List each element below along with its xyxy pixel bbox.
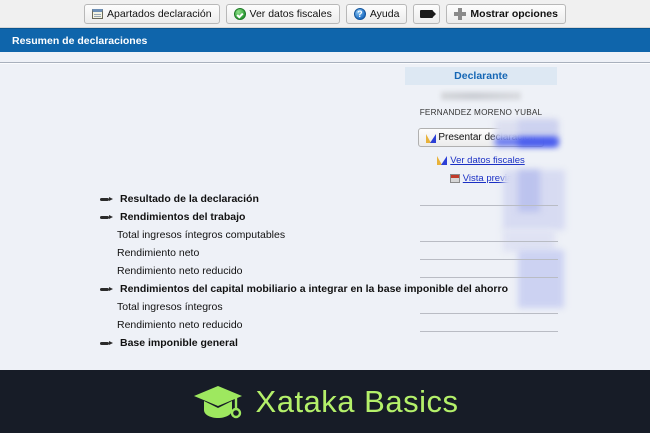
window-icon xyxy=(92,9,103,19)
declarante-heading: Declarante xyxy=(405,67,557,85)
top-toolbar: Apartados declaración Ver datos fiscales… xyxy=(0,0,650,28)
summary-row-label: Rendimiento neto reducido xyxy=(117,319,243,331)
summary-row[interactable]: Resultado de la declaración xyxy=(0,190,650,208)
summary-row[interactable]: Rendimiento neto xyxy=(0,244,650,262)
declaration-summary-page: Declarante FERNANDEZ MORENO YUBAL Presen… xyxy=(0,52,650,363)
summary-row-value-line xyxy=(420,277,558,278)
summary-row-value-line xyxy=(420,241,558,242)
video-button[interactable] xyxy=(413,4,440,24)
summary-rows: Resultado de la declaración Rendimientos… xyxy=(0,190,650,352)
summary-row-value-line xyxy=(420,205,558,206)
ver-datos-fiscales-link[interactable]: Ver datos fiscales xyxy=(450,155,524,166)
declarante-panel: Declarante FERNANDEZ MORENO YUBAL Presen… xyxy=(405,67,557,184)
presentar-declaracion-button[interactable]: Presentar declaración xyxy=(418,128,543,147)
vista-previa-link[interactable]: Vista previa xyxy=(463,173,512,184)
summary-row-label: Rendimientos del trabajo xyxy=(120,211,245,223)
apartados-declaracion-button[interactable]: Apartados declaración xyxy=(84,4,219,24)
arrow-bullet-icon xyxy=(100,215,113,220)
summary-row-label: Total ingresos íntegros xyxy=(117,301,223,313)
ver-datos-fiscales-button[interactable]: Ver datos fiscales xyxy=(226,4,340,24)
page-title: Resumen de declaraciones xyxy=(12,35,147,47)
ver-datos-fiscales-label: Ver datos fiscales xyxy=(250,8,332,20)
arrow-bullet-icon xyxy=(100,341,113,346)
vista-previa-link-row[interactable]: Vista previa xyxy=(405,173,557,184)
summary-row[interactable]: Rendimiento neto reducido xyxy=(0,262,650,280)
summary-row[interactable]: Base imponible general xyxy=(0,334,650,352)
summary-row-value-line xyxy=(420,331,558,332)
summary-row-label: Resultado de la declaración xyxy=(120,193,259,205)
section-header-bar: Resumen de declaraciones xyxy=(0,28,650,52)
ver-datos-fiscales-link-row[interactable]: Ver datos fiscales xyxy=(405,155,557,166)
mostrar-opciones-button[interactable]: Mostrar opciones xyxy=(446,4,566,24)
graduation-cap-icon xyxy=(192,383,244,421)
pdf-preview-icon xyxy=(450,174,460,183)
summary-row-label: Rendimientos del capital mobiliario a in… xyxy=(120,283,508,295)
help-question-icon: ? xyxy=(354,8,366,20)
acrobat-icon xyxy=(426,133,436,143)
summary-row[interactable]: Rendimiento neto reducido xyxy=(0,316,650,334)
arrow-bullet-icon xyxy=(100,197,113,202)
summary-row[interactable]: Total ingresos íntegros computables xyxy=(0,226,650,244)
top-divider xyxy=(0,62,650,64)
summary-row-label: Total ingresos íntegros computables xyxy=(117,229,285,241)
green-check-icon xyxy=(234,8,246,20)
video-camera-icon xyxy=(420,10,433,18)
presentar-declaracion-label: Presentar declaración xyxy=(438,132,535,143)
summary-row[interactable]: Rendimientos del capital mobiliario a in… xyxy=(0,280,650,298)
declarante-name: FERNANDEZ MORENO YUBAL xyxy=(405,108,557,117)
summary-row-value-line xyxy=(420,259,558,260)
move-arrows-icon xyxy=(454,8,466,20)
summary-row-label: Base imponible general xyxy=(120,337,238,349)
acrobat-icon xyxy=(437,155,447,165)
summary-row-label: Rendimiento neto reducido xyxy=(117,265,243,277)
summary-row-label: Rendimiento neto xyxy=(117,247,199,259)
ayuda-button[interactable]: ? Ayuda xyxy=(346,4,408,24)
footer-banner: Xataka Basics xyxy=(0,370,650,433)
footer-brand-title: Xataka Basics xyxy=(256,384,459,420)
mostrar-opciones-label: Mostrar opciones xyxy=(470,8,558,20)
ayuda-label: Ayuda xyxy=(370,8,400,20)
declarante-redacted-id xyxy=(441,92,521,100)
apartados-declaracion-label: Apartados declaración xyxy=(107,8,211,20)
summary-row[interactable]: Rendimientos del trabajo xyxy=(0,208,650,226)
summary-row-value-line xyxy=(420,313,558,314)
summary-row[interactable]: Total ingresos íntegros xyxy=(0,298,650,316)
arrow-bullet-icon xyxy=(100,287,113,292)
